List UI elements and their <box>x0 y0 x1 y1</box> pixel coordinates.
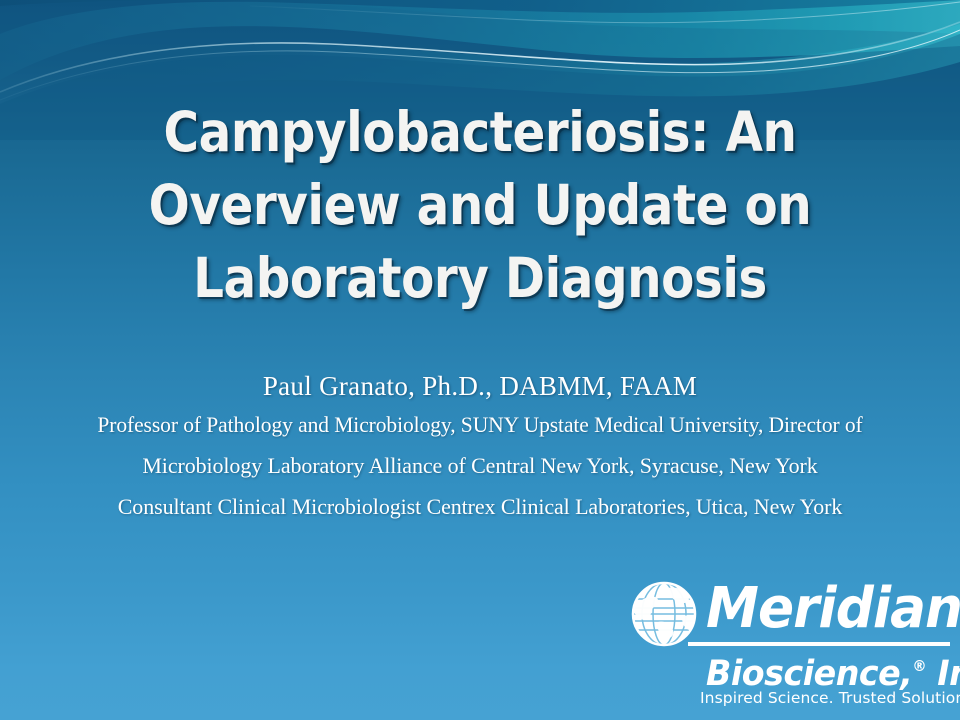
title-line-2: Overview and Update on <box>58 169 903 242</box>
registered-mark-icon: ® <box>912 657 926 675</box>
title-line-1: Campylobacteriosis: An <box>58 96 903 169</box>
meridian-bioscience-logo: Meridian Bioscience,® Inc. Inspired Scie… <box>620 568 950 703</box>
affiliation-line-1: Professor of Pathology and Microbiology,… <box>10 404 951 445</box>
logo-tagline: Inspired Science. Trusted Solutions.® <box>700 686 960 707</box>
globe-icon <box>628 578 700 650</box>
presentation-slide: Campylobacteriosis: An Overview and Upda… <box>0 0 960 720</box>
logo-tagline-text: Inspired Science. Trusted Solutions. <box>700 689 960 707</box>
title-line-3: Laboratory Diagnosis <box>58 242 903 315</box>
affiliation-line-3: Consultant Clinical Microbiologist Centr… <box>0 486 960 527</box>
slide-subtitle: Paul Granato, Ph.D., DABMM, FAAM Profess… <box>0 368 960 527</box>
logo-brand-name: Meridian <box>706 578 960 640</box>
affiliation-line-2: Microbiology Laboratory Alliance of Cent… <box>0 445 960 486</box>
slide-title: Campylobacteriosis: An Overview and Upda… <box>0 96 960 315</box>
presenter-name: Paul Granato, Ph.D., DABMM, FAAM <box>0 368 960 404</box>
